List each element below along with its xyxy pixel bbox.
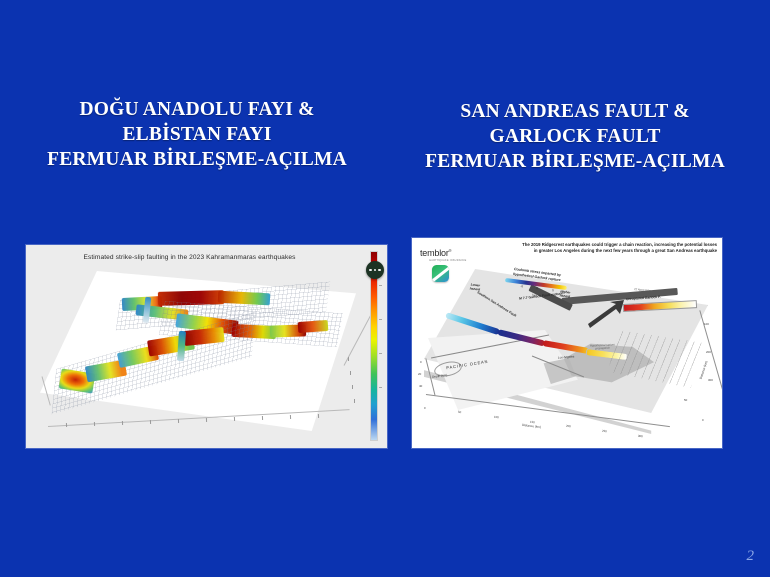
legend-scale-mid: 0 xyxy=(536,286,538,290)
label-rupture-propagation: Hypothetical rupture propagation xyxy=(590,343,615,351)
depth-tick: 40 xyxy=(419,384,422,388)
distance-tick: 0 xyxy=(424,406,426,410)
right-figure-caption: The 2019 Ridgecrest earthquakes could tr… xyxy=(521,242,717,254)
distance-tick: 150 xyxy=(530,420,535,425)
label-rupture-propagation-line-2: propagation xyxy=(595,346,610,351)
title-left-line-2: ELBİSTAN FAYI xyxy=(10,123,384,148)
colorbar-tick xyxy=(379,353,382,354)
left-axis-tick xyxy=(352,385,353,389)
temblor-wordmark-text: temblor xyxy=(420,248,449,258)
distance-tick: 250 xyxy=(602,429,607,434)
slide-canvas: DOĞU ANADOLU FAYI & ELBİSTAN FAYI FERMUA… xyxy=(0,0,770,577)
left-axis-tick xyxy=(354,399,355,403)
colorbar-tick xyxy=(379,387,382,388)
left-figure-colorbar xyxy=(370,251,378,441)
temblor-app-icon xyxy=(432,265,449,282)
right-distance-axis-label: Distance (km) xyxy=(699,360,709,379)
left-axis-tick xyxy=(66,423,67,427)
left-axis-tick xyxy=(94,422,95,426)
depth-tick: 20 xyxy=(418,372,421,376)
title-left: DOĞU ANADOLU FAYI & ELBİSTAN FAYI FERMUA… xyxy=(10,98,384,173)
title-right-line-2: GARLOCK FAULT xyxy=(386,125,764,150)
title-right: SAN ANDREAS FAULT & GARLOCK FAULT FERMUA… xyxy=(386,100,764,175)
dot xyxy=(374,269,377,272)
figure-left-kahramanmaras-slip-model[interactable]: Estimated strike-slip faulting in the 20… xyxy=(26,245,387,448)
title-right-line-1: SAN ANDREAS FAULT & xyxy=(386,100,764,125)
left-figure-title: Estimated strike-slip faulting in the 20… xyxy=(26,254,353,261)
left-axis-tick xyxy=(350,371,351,375)
left-axis-tick xyxy=(348,357,349,361)
colorbar-tick xyxy=(379,285,382,286)
right-distance-tick: 200 xyxy=(706,350,711,354)
left-axis-tick xyxy=(122,421,123,425)
title-left-line-3: FERMUAR BİRLEŞME-AÇILMA xyxy=(10,148,384,173)
right-distance-tick: 300 xyxy=(708,378,713,382)
dot xyxy=(369,269,372,272)
corner-tick: 50 xyxy=(684,398,687,402)
slip-patch xyxy=(298,320,329,333)
legend-scale-min: -5 xyxy=(520,284,523,288)
title-right-line-3: FERMUAR BİRLEŞME-AÇILMA xyxy=(386,150,764,175)
distance-tick: 50 xyxy=(458,410,462,414)
right-figure-canvas: The 2019 Ridgecrest earthquakes could tr… xyxy=(412,238,722,448)
left-axis-tick xyxy=(206,418,207,422)
left-axis-tick xyxy=(234,417,235,421)
colorbar-tick xyxy=(379,319,382,320)
dot xyxy=(378,269,381,272)
left-figure-canvas: Estimated strike-slip faulting in the 20… xyxy=(26,245,387,448)
more-options-icon[interactable] xyxy=(366,261,384,279)
distance-tick: 100 xyxy=(494,415,499,420)
distance-tick: 200 xyxy=(566,424,571,429)
temblor-tagline: EARTHQUAKE INSURANCE xyxy=(420,259,476,262)
left-axis-tick xyxy=(150,420,151,424)
trademark-symbol: ® xyxy=(449,248,452,253)
depth-tick: 0 xyxy=(420,360,422,364)
left-axis-tick xyxy=(318,414,319,418)
temblor-logo: temblor® EARTHQUAKE INSURANCE xyxy=(420,248,476,282)
corner-tick: 0 xyxy=(702,418,704,422)
page-number: 2 xyxy=(747,548,755,565)
rupture-propagation-arrow xyxy=(582,298,628,330)
left-axis-tick xyxy=(178,419,179,423)
left-axis-tick xyxy=(290,415,291,419)
figure-right-temblor-garlock-san-andreas[interactable]: The 2019 Ridgecrest earthquakes could tr… xyxy=(412,238,722,448)
left-axis-tick xyxy=(262,416,263,420)
distance-tick: 300 xyxy=(638,434,643,439)
temblor-wordmark: temblor® xyxy=(420,248,476,258)
title-left-line-1: DOĞU ANADOLU FAYI & xyxy=(10,98,384,123)
